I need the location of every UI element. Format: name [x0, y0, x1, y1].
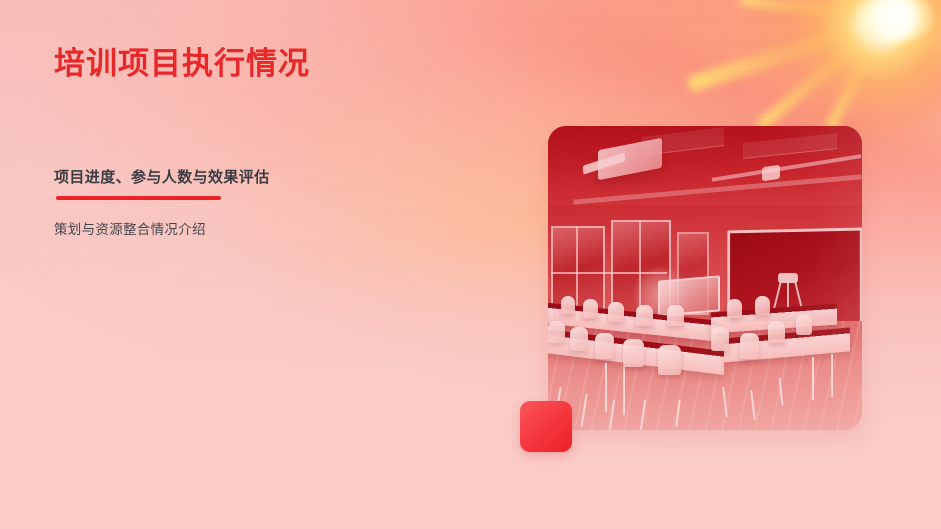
accent-square: [520, 401, 572, 452]
title-divider: [56, 196, 221, 200]
slide-description: 策划与资源整合情况介绍: [54, 218, 206, 238]
slide-subtitle: 项目进度、参与人数与效果评估: [54, 166, 270, 187]
slide-title: 培训项目执行情况: [54, 38, 310, 83]
classroom-photo: [548, 126, 862, 430]
photo-illustration: [548, 126, 862, 430]
slide-canvas: 培训项目执行情况 项目进度、参与人数与效果评估 策划与资源整合情况介绍: [0, 0, 941, 529]
photo-soft-highlight: [548, 126, 862, 430]
